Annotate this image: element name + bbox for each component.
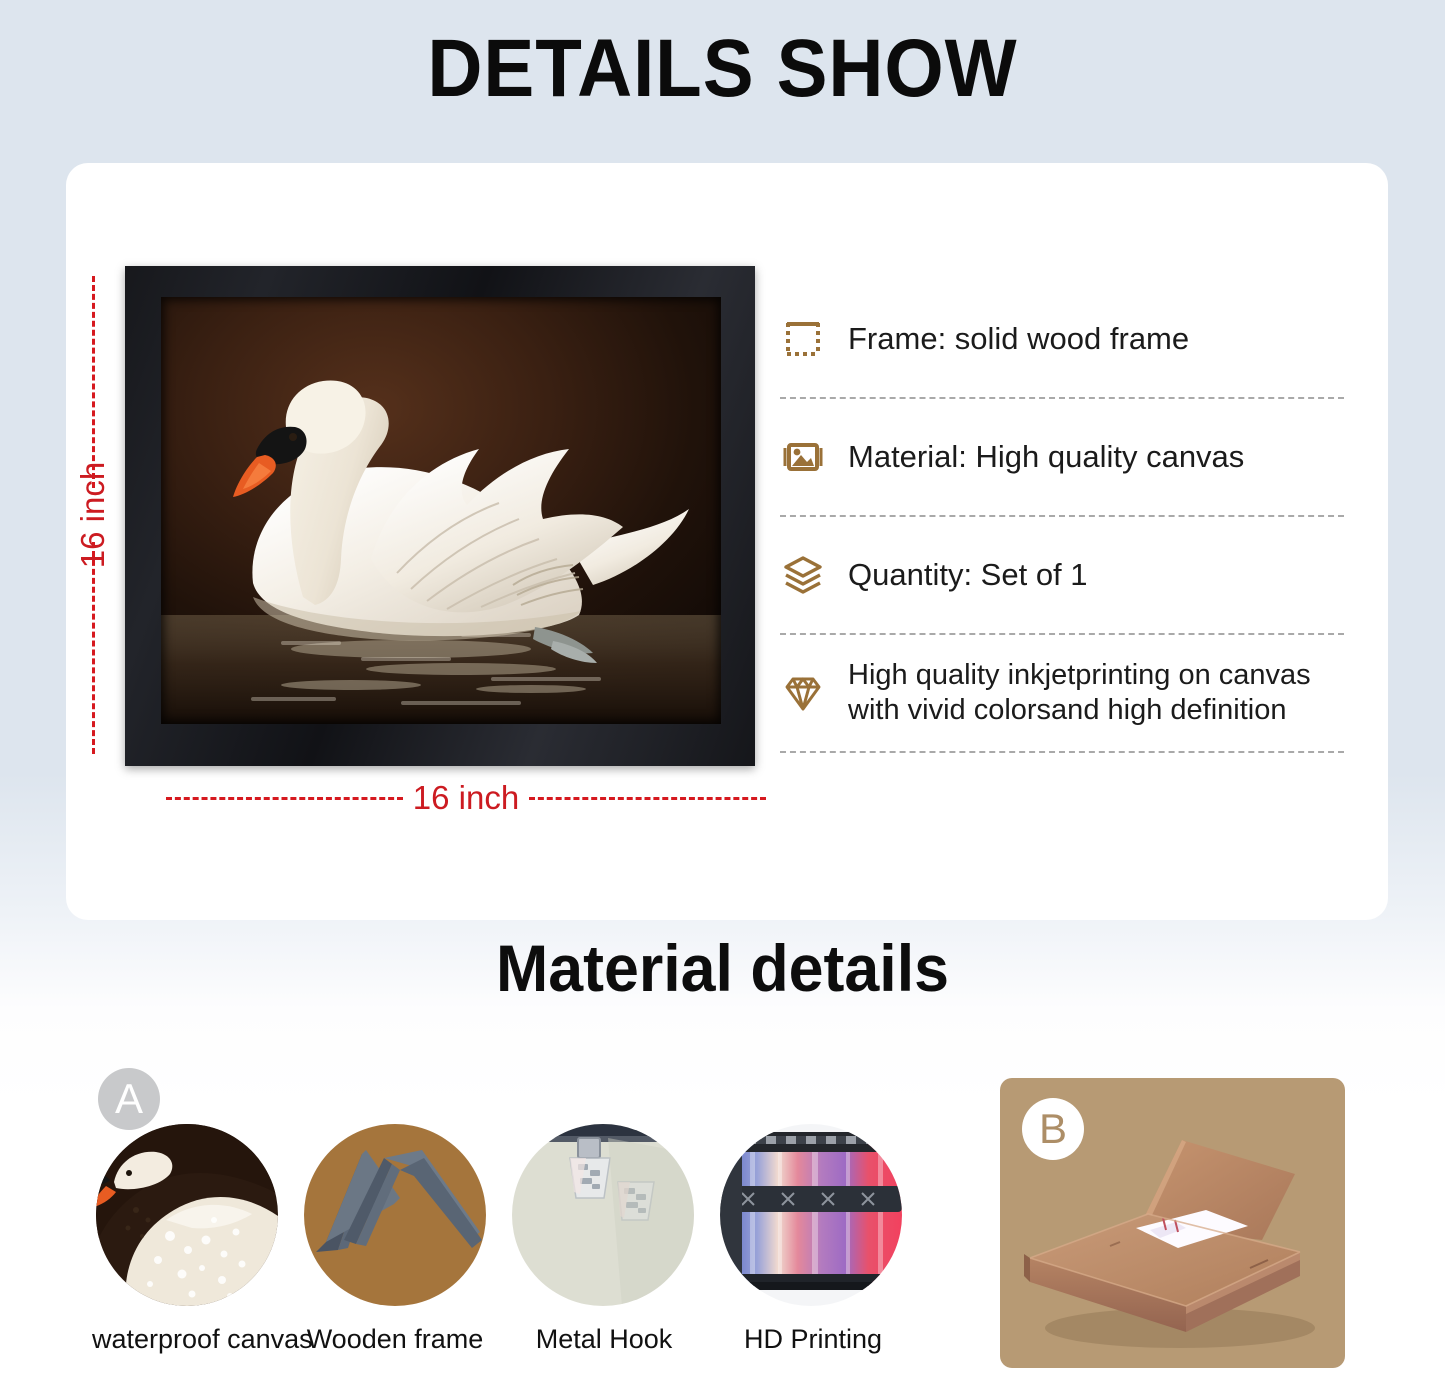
dimension-dash-line <box>166 797 403 800</box>
panel-a-badge: A <box>98 1068 160 1130</box>
metal-hook-thumb-icon[interactable] <box>512 1124 694 1306</box>
thumbnail-item[interactable]: waterproof canvas <box>96 1124 278 1355</box>
feature-label: Frame: solid wood frame <box>848 320 1189 358</box>
layers-icon <box>780 552 826 598</box>
thumbnail-row: waterproof canvas Wooden fr <box>96 1124 956 1355</box>
frame-dashed-icon <box>780 316 826 362</box>
height-dimension: 16 inch <box>76 276 110 754</box>
framed-artwork <box>125 266 755 766</box>
swan-painting-icon <box>161 297 721 724</box>
hd-printing-thumb-icon[interactable] <box>720 1124 902 1306</box>
thumbnail-label: waterproof canvas <box>92 1324 278 1355</box>
width-dimension: 16 inch <box>166 778 766 818</box>
feature-label: Quantity: Set of 1 <box>848 556 1088 594</box>
thumbnail-label: HD Printing <box>724 1324 902 1355</box>
feature-row-material: Material: High quality canvas <box>780 399 1344 517</box>
diamond-icon <box>780 670 826 716</box>
feature-label: High quality inkjetprinting on canvas wi… <box>848 658 1344 729</box>
feature-label: Material: High quality canvas <box>848 438 1244 476</box>
thumbnail-label: Wooden frame <box>304 1324 486 1355</box>
feature-row-printing: High quality inkjetprinting on canvas wi… <box>780 635 1344 753</box>
thumbnail-item[interactable]: HD Printing <box>720 1124 902 1355</box>
thumbnail-item[interactable]: Metal Hook <box>512 1124 694 1355</box>
details-card: 16 inch 16 inch Frame: solid wood frame <box>66 163 1388 920</box>
feature-row-quantity: Quantity: Set of 1 <box>780 517 1344 635</box>
wooden-frame-thumb-icon[interactable] <box>304 1124 486 1306</box>
dimension-dash-line <box>92 542 95 754</box>
canvas-area <box>161 297 721 724</box>
thumbnail-label: Metal Hook <box>514 1324 694 1355</box>
thumbnail-item[interactable]: Wooden frame <box>304 1124 486 1355</box>
height-dimension-label: 16 inch <box>66 462 120 568</box>
dimension-dash-line <box>92 276 95 488</box>
section-title: Material details <box>36 930 1409 1006</box>
width-dimension-label: 16 inch <box>403 779 529 817</box>
feature-list: Frame: solid wood frame Material: High q… <box>780 281 1344 753</box>
dimension-dash-line <box>529 797 766 800</box>
panel-b-badge: B <box>1022 1098 1084 1160</box>
material-panel-b: B <box>1000 1078 1345 1368</box>
material-panel-a: A <box>96 1068 956 1368</box>
picture-icon <box>780 434 826 480</box>
feature-row-frame: Frame: solid wood frame <box>780 281 1344 399</box>
waterproof-canvas-thumb-icon[interactable] <box>96 1124 278 1306</box>
page-title: DETAILS SHOW <box>51 22 1395 116</box>
